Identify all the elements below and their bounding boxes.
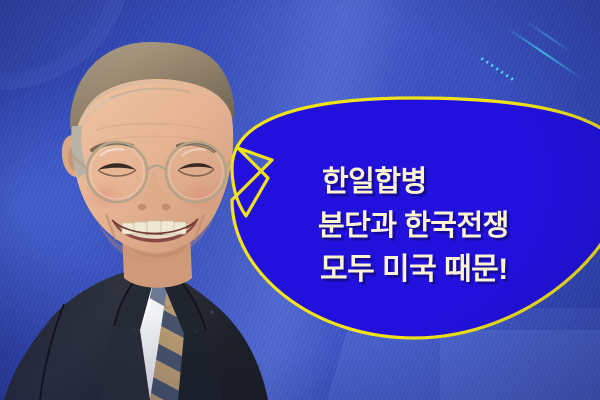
bubble-line-3: 모두 미국 때문! (320, 248, 593, 292)
bubble-line-2: 분단과 한국전쟁 (318, 204, 593, 248)
image-canvas: 한일합병 분단과 한국전쟁 모두 미국 때문! (0, 0, 600, 400)
speech-bubble-text: 한일합병 분단과 한국전쟁 모두 미국 때문! (318, 160, 593, 292)
bubble-line-1: 한일합병 (322, 160, 593, 204)
